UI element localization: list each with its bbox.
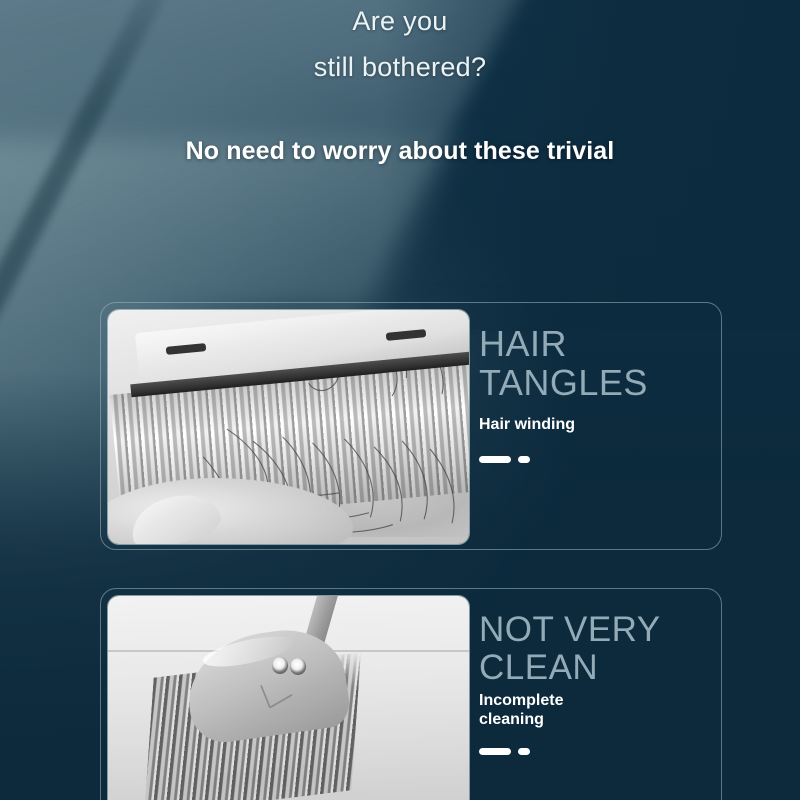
- broom-face-eye-icon: [290, 658, 306, 675]
- dash-long-icon: [479, 748, 511, 755]
- feature-card-hair-tangles: HAIR TANGLES Hair winding: [100, 302, 722, 550]
- broom-head-hair-illustration: [108, 310, 469, 544]
- broom-sweeping-illustration: [108, 596, 469, 800]
- dash-divider: [479, 456, 707, 463]
- headline-line-2: still bothered?: [0, 52, 800, 83]
- feature-subtitle: Incomplete cleaning: [479, 691, 707, 730]
- feature-text-hair-tangles: HAIR TANGLES Hair winding: [479, 325, 707, 463]
- dash-short-icon: [518, 748, 530, 755]
- feature-card-not-very-clean: NOT VERY CLEAN Incomplete cleaning: [100, 588, 722, 800]
- feature-title: NOT VERY CLEAN: [479, 611, 707, 687]
- subheadline: No need to worry about these trivial: [0, 137, 800, 166]
- headline-line-1: Are you: [0, 6, 800, 37]
- dash-divider: [479, 748, 707, 755]
- feature-photo-not-very-clean: [107, 595, 470, 800]
- feature-text-not-very-clean: NOT VERY CLEAN Incomplete cleaning: [479, 611, 707, 755]
- broom-face-eye-icon: [272, 657, 288, 674]
- dash-long-icon: [479, 456, 511, 463]
- dash-short-icon: [518, 456, 530, 463]
- feature-photo-hair-tangles: [107, 309, 470, 545]
- promo-page: Are you still bothered? No need to worry…: [0, 0, 800, 800]
- feature-subtitle: Hair winding: [479, 415, 707, 435]
- feature-title: HAIR TANGLES: [479, 325, 707, 403]
